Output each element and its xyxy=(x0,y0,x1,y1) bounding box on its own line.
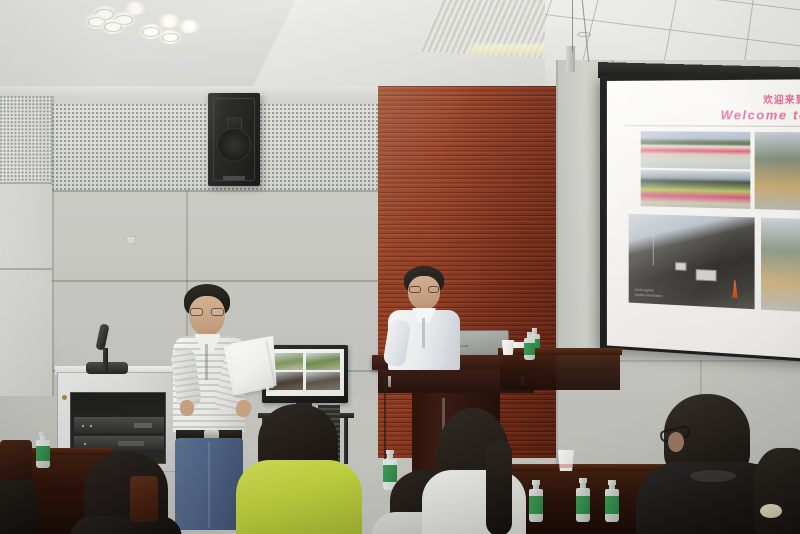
water-bottle xyxy=(605,480,619,522)
slide-title-underline xyxy=(625,125,800,127)
slide-photo-extra xyxy=(761,218,800,313)
recessed-downlight xyxy=(178,20,200,33)
audience-table-mid xyxy=(500,352,620,390)
presenter-shirt-placket xyxy=(205,344,208,380)
bottle-cap xyxy=(532,480,539,485)
audience-member-2 xyxy=(236,460,362,534)
wall-mounted-loudspeaker xyxy=(208,93,260,186)
rack-amplifier xyxy=(74,417,164,433)
photo-wire xyxy=(639,224,682,236)
wall-panel-seam-vertical xyxy=(52,96,54,396)
audience-member-5-ear xyxy=(668,432,684,452)
monitor-display xyxy=(266,349,344,396)
speaker-brand-badge xyxy=(223,176,245,180)
water-bottle xyxy=(529,480,543,522)
chair-back xyxy=(0,440,32,480)
water-bottle xyxy=(524,332,535,360)
photo-signboard xyxy=(696,269,717,281)
bottle-cap xyxy=(532,328,538,331)
bottle-label xyxy=(36,446,50,461)
wall-panel-seam xyxy=(0,182,52,184)
audience-member-5-collar xyxy=(690,470,736,482)
rack-led xyxy=(84,443,86,445)
speaker-shirt-placket xyxy=(422,318,425,348)
photo-traffic-cone xyxy=(732,280,737,298)
paper-cup xyxy=(501,340,515,355)
bottle-cap xyxy=(527,332,533,335)
speaker-woofer xyxy=(217,128,251,162)
bottle-label xyxy=(605,496,619,514)
presenter-left-hand xyxy=(180,400,194,416)
wall-panel-seam xyxy=(52,190,378,192)
slide-photo-caption: photo caption location information xyxy=(635,288,663,299)
downlight-ring xyxy=(162,33,179,42)
screen-cable xyxy=(572,0,573,52)
presenter-trouser-crease xyxy=(208,442,210,528)
chair-back xyxy=(130,476,158,522)
microphone-stand xyxy=(103,348,108,372)
monitor-thumb xyxy=(306,372,340,390)
bottle-label xyxy=(576,496,590,514)
bottle-label xyxy=(383,465,397,482)
lectern-trim xyxy=(388,376,391,387)
recessed-downlight xyxy=(158,14,180,28)
seated-speaker xyxy=(404,266,464,376)
bottle-label xyxy=(529,496,543,514)
photo-signboard xyxy=(675,262,686,271)
screen-mount-bracket xyxy=(566,46,575,72)
projected-slide: 欢迎来到 Welcome to photo caption location i… xyxy=(607,79,800,359)
speaker-glasses xyxy=(409,286,439,293)
bottle-cap xyxy=(39,432,46,436)
slide-title-chinese: 欢迎来到 xyxy=(763,91,800,106)
monitor-thumb xyxy=(306,353,340,370)
slide-title-english: Welcome to xyxy=(721,108,800,123)
bottle-cap xyxy=(579,478,586,483)
audience-table-edge-mid xyxy=(498,348,622,355)
right-wall-seam xyxy=(556,60,558,480)
projector-screen: 欢迎来到 Welcome to photo caption location i… xyxy=(600,74,800,362)
rack-led xyxy=(82,425,84,427)
water-bottle xyxy=(36,432,50,468)
rack-led xyxy=(90,425,92,427)
bottle-cap xyxy=(608,480,615,485)
slide-photo-flower-field-2 xyxy=(641,170,751,209)
cabinet-latch xyxy=(62,395,67,400)
presenter-glasses xyxy=(190,308,224,316)
slide-photo-flower-field-3 xyxy=(755,132,800,211)
wall-panel-seam xyxy=(0,268,52,270)
audience-member-1-shoulders xyxy=(70,516,182,534)
wall-panel-seam xyxy=(52,280,378,282)
wall-outlet-plate xyxy=(126,236,136,244)
bottle-cap xyxy=(386,450,393,454)
water-bottle xyxy=(576,478,590,522)
downlight-ring xyxy=(104,22,122,32)
audience-member-4-ponytail xyxy=(486,440,512,534)
slide-photo-building: photo caption location information xyxy=(629,214,755,309)
audience-member-6-hair-tie xyxy=(760,504,782,518)
bottle-label xyxy=(524,343,535,355)
perforated-acoustic-panel-left xyxy=(0,96,52,182)
audience-member-6 xyxy=(754,448,800,534)
recessed-downlight xyxy=(124,2,146,15)
conference-room-photo: 欢迎来到 Welcome to photo caption location i… xyxy=(0,0,800,534)
slide-photo-flower-field-1 xyxy=(641,131,751,169)
photo-utility-pole xyxy=(653,221,654,266)
cart-leg xyxy=(344,418,348,464)
paper-cup-band xyxy=(559,464,573,468)
